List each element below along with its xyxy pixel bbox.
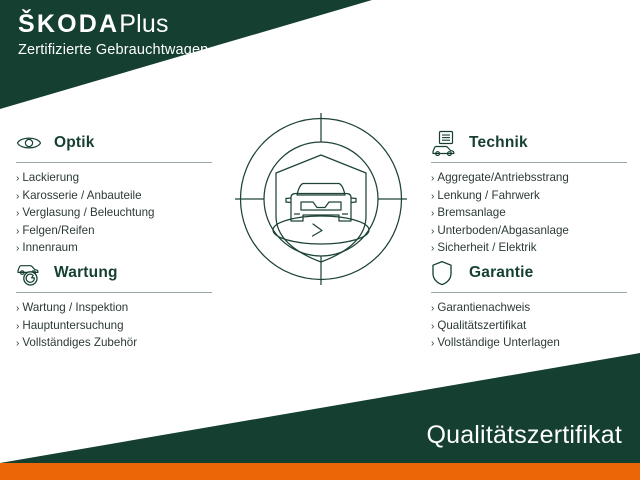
chevron-right-icon: › — [431, 191, 434, 202]
chevron-right-icon: › — [431, 338, 434, 349]
eye-icon — [16, 129, 46, 157]
car-service-icon — [16, 259, 46, 287]
list-item-label: Aggregate/Antriebsstrang — [437, 171, 568, 184]
list-item: ›Unterboden/Abgasanlage — [431, 223, 627, 241]
orange-accent-strip — [0, 463, 640, 480]
section-header: Optik — [16, 128, 212, 158]
list-item-label: Lenkung / Fahrwerk — [437, 189, 539, 202]
section-title: Garantie — [469, 264, 534, 282]
brand-name-plus: Plus — [119, 10, 168, 38]
list-item: ›Qualitätszertifikat — [431, 318, 627, 336]
chevron-right-icon: › — [431, 226, 434, 237]
chevron-right-icon: › — [16, 173, 19, 184]
list-item: ›Garantienachweis — [431, 300, 627, 318]
section-divider — [431, 292, 627, 293]
section-divider — [16, 162, 212, 163]
car-shield-rotation-emblem — [235, 113, 407, 285]
section-technik: Technik ›Aggregate/Antriebsstrang ›Lenku… — [431, 128, 627, 258]
section-wartung: Wartung ›Wartung / Inspektion ›Hauptunte… — [16, 258, 212, 353]
brand-lockup: ŠKODAPlus Zertifizierte Gebrauchtwagen — [18, 12, 208, 58]
section-item-list: ›Lackierung ›Karosserie / Anbauteile ›Ve… — [16, 170, 212, 258]
chevron-right-icon: › — [431, 208, 434, 219]
section-title: Optik — [54, 134, 95, 152]
chevron-right-icon: › — [431, 321, 434, 332]
list-item-label: Qualitätszertifikat — [437, 319, 526, 332]
list-item: ›Vollständige Unterlagen — [431, 335, 627, 353]
chevron-right-icon: › — [16, 208, 19, 219]
section-item-list: ›Wartung / Inspektion ›Hauptuntersuchung… — [16, 300, 212, 353]
list-item-label: Wartung / Inspektion — [22, 301, 128, 314]
list-item-label: Vollständige Unterlagen — [437, 336, 559, 349]
list-item: ›Felgen/Reifen — [16, 223, 212, 241]
list-item: ›Karosserie / Anbauteile — [16, 188, 212, 206]
list-item-label: Verglasung / Beleuchtung — [22, 206, 154, 219]
list-item: ›Innenraum — [16, 240, 212, 258]
section-optik: Optik ›Lackierung ›Karosserie / Anbautei… — [16, 128, 212, 258]
list-item: ›Verglasung / Beleuchtung — [16, 205, 212, 223]
list-item: ›Sicherheit / Elektrik — [431, 240, 627, 258]
list-item-label: Sicherheit / Elektrik — [437, 241, 536, 254]
list-item-label: Bremsanlage — [437, 206, 505, 219]
list-item: ›Aggregate/Antriebsstrang — [431, 170, 627, 188]
chevron-right-icon: › — [16, 321, 19, 332]
list-item: ›Hauptuntersuchung — [16, 318, 212, 336]
section-header: Garantie — [431, 258, 627, 288]
section-garantie: Garantie ›Garantienachweis ›Qualitätszer… — [431, 258, 627, 353]
list-item-label: Vollständiges Zubehör — [22, 336, 137, 349]
list-item-label: Felgen/Reifen — [22, 224, 94, 237]
shield-icon — [431, 259, 461, 287]
section-divider — [431, 162, 627, 163]
car-document-icon — [431, 129, 461, 157]
section-title: Wartung — [54, 264, 118, 282]
list-item: ›Lenkung / Fahrwerk — [431, 188, 627, 206]
certificate-page: ŠKODAPlus Zertifizierte Gebrauchtwagen O… — [0, 0, 640, 480]
list-item-label: Karosserie / Anbauteile — [22, 189, 141, 202]
chevron-right-icon: › — [16, 243, 19, 254]
brand-tagline: Zertifizierte Gebrauchtwagen — [18, 43, 208, 58]
list-item: ›Bremsanlage — [431, 205, 627, 223]
brand-name-row: ŠKODAPlus — [18, 12, 208, 37]
list-item-label: Hauptuntersuchung — [22, 319, 123, 332]
section-header: Wartung — [16, 258, 212, 288]
chevron-right-icon: › — [431, 303, 434, 314]
chevron-right-icon: › — [431, 243, 434, 254]
list-item: ›Lackierung — [16, 170, 212, 188]
chevron-right-icon: › — [16, 303, 19, 314]
brand-name-skoda: ŠKODA — [18, 10, 119, 38]
list-item-label: Unterboden/Abgasanlage — [437, 224, 569, 237]
list-item-label: Lackierung — [22, 171, 79, 184]
section-divider — [16, 292, 212, 293]
list-item: ›Wartung / Inspektion — [16, 300, 212, 318]
section-header: Technik — [431, 128, 627, 158]
chevron-right-icon: › — [16, 338, 19, 349]
footer-title: Qualitätszertifikat — [426, 421, 622, 450]
chevron-right-icon: › — [16, 191, 19, 202]
chevron-right-icon: › — [16, 226, 19, 237]
list-item-label: Garantienachweis — [437, 301, 530, 314]
chevron-right-icon: › — [431, 173, 434, 184]
list-item: ›Vollständiges Zubehör — [16, 335, 212, 353]
section-title: Technik — [469, 134, 528, 152]
section-item-list: ›Garantienachweis ›Qualitätszertifikat ›… — [431, 300, 627, 353]
section-item-list: ›Aggregate/Antriebsstrang ›Lenkung / Fah… — [431, 170, 627, 258]
list-item-label: Innenraum — [22, 241, 77, 254]
